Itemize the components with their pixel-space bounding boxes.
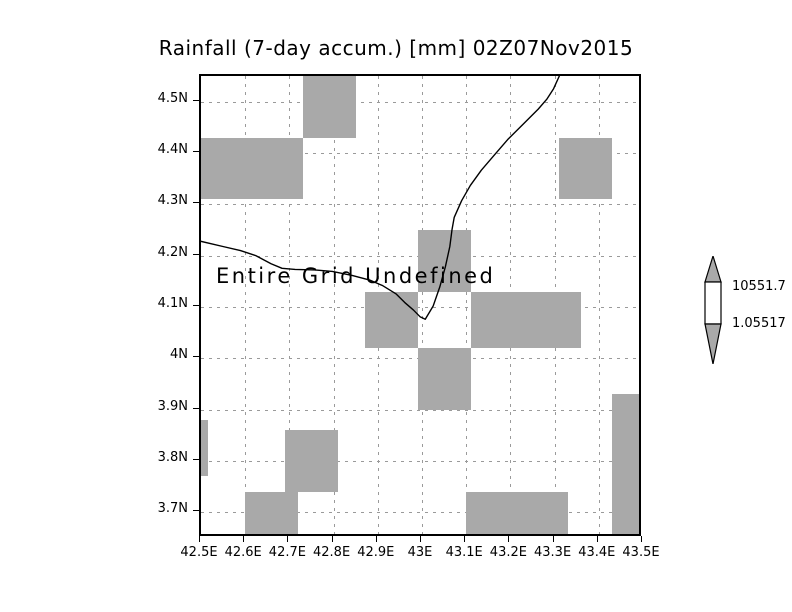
colorbar-lower-label: 1.05517 (732, 316, 786, 331)
block-center-right-arm (471, 292, 582, 348)
y-axis-tick (193, 254, 199, 255)
block-left-sliver (201, 420, 208, 476)
x-axis-tick (553, 536, 554, 542)
y-axis-tick (193, 305, 199, 306)
x-axis-tick (376, 536, 377, 542)
block-lower-mid (285, 430, 338, 492)
y-axis-tick-label: 3.8N (158, 450, 188, 465)
block-upper-left (201, 138, 303, 200)
grid-line-horizontal (201, 461, 639, 462)
grid-line-horizontal (201, 102, 639, 103)
x-axis-tick (243, 536, 244, 542)
y-axis: 4.5N4.4N4.3N4.2N4.1N4N3.9N3.8N3.7N (120, 0, 188, 612)
entire-grid-undefined-message: Entire Grid Undefined (216, 264, 495, 288)
map-plot-area (201, 76, 639, 534)
y-axis-tick (193, 202, 199, 203)
y-axis-tick (193, 408, 199, 409)
block-right-edge (612, 394, 641, 536)
page-title: Rainfall (7-day accum.) [mm] 02Z07Nov201… (0, 36, 792, 60)
grid-line-vertical (466, 76, 467, 534)
x-axis-tick (508, 536, 509, 542)
y-axis-tick (193, 459, 199, 460)
y-axis-tick-label: 4N (170, 347, 188, 362)
x-axis-tick (420, 536, 421, 542)
y-axis-tick-label: 4.4N (158, 142, 188, 157)
colorbar-middle-box (705, 282, 721, 324)
y-axis-tick-label: 4.3N (158, 193, 188, 208)
block-bottom-left (245, 492, 298, 536)
x-axis-tick (641, 536, 642, 542)
y-axis-tick-label: 4.5N (158, 91, 188, 106)
y-axis-tick-label: 3.7N (158, 501, 188, 516)
y-axis-tick (193, 510, 199, 511)
y-axis-tick-label: 3.9N (158, 399, 188, 414)
grid-line-horizontal (201, 204, 639, 205)
block-bottom-right (466, 492, 568, 536)
x-axis-tick (464, 536, 465, 542)
grid-line-vertical (422, 76, 423, 534)
colorbar-shape (700, 256, 726, 364)
x-axis-tick (287, 536, 288, 542)
x-axis-tick (332, 536, 333, 542)
x-axis-tick (199, 536, 200, 542)
x-axis-tick-label: 43.5E (611, 545, 671, 560)
block-center-left-arm (365, 292, 418, 348)
colorbar[interactable] (700, 256, 726, 364)
y-axis-tick (193, 356, 199, 357)
x-axis-tick (597, 536, 598, 542)
block-upper-right (559, 138, 612, 200)
block-top-center (303, 76, 356, 138)
y-axis-tick-label: 4.2N (158, 245, 188, 260)
y-axis-tick (193, 151, 199, 152)
y-axis-tick (193, 100, 199, 101)
colorbar-upper-arrow (705, 256, 721, 282)
colorbar-upper-label: 10551.7 (732, 279, 786, 294)
grid-line-horizontal (201, 410, 639, 411)
block-center-lower-stem (418, 348, 471, 410)
colorbar-lower-arrow (705, 324, 721, 364)
map-plot-panel[interactable] (199, 74, 641, 536)
y-axis-tick-label: 4.1N (158, 296, 188, 311)
